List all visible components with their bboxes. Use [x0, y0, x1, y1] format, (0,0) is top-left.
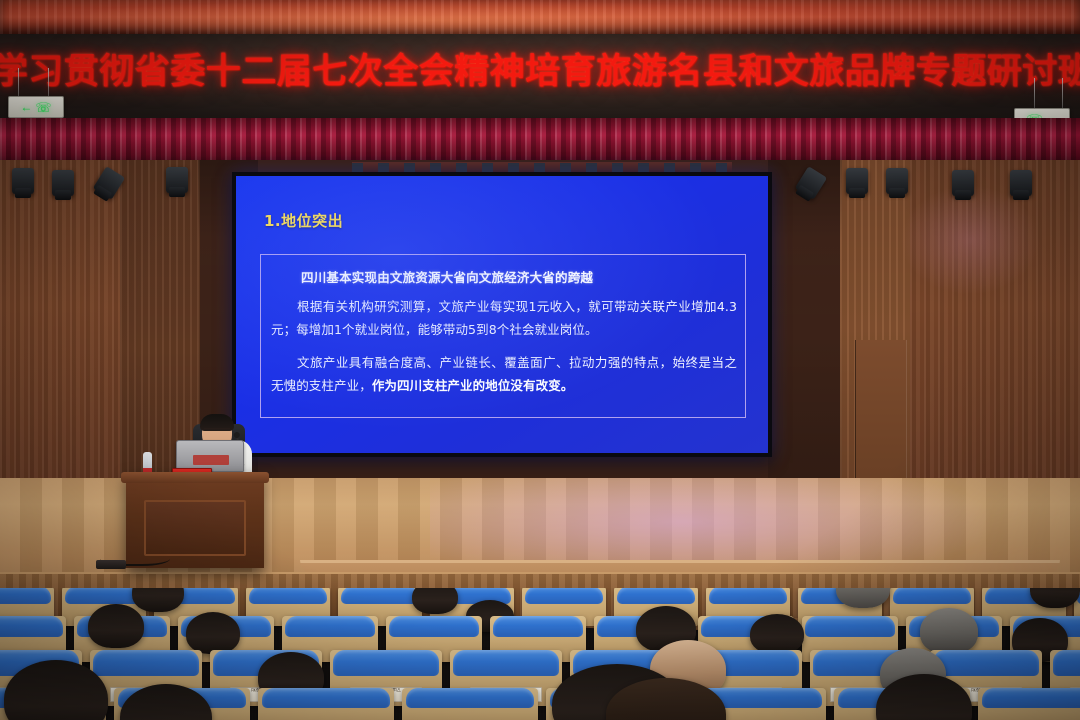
audience-head [920, 608, 978, 654]
seat-cushion [0, 588, 51, 604]
lectern-top [121, 472, 269, 483]
seat-cushion [617, 588, 696, 604]
seat-cushion [982, 688, 1080, 708]
stage-light-2 [52, 170, 74, 196]
stage-light-8 [952, 170, 974, 196]
seat-cushion [249, 588, 328, 604]
seat-cushion [933, 650, 1038, 676]
seat[interactable] [258, 688, 394, 720]
stage-light-6 [846, 168, 868, 194]
seat-cushion [389, 616, 479, 637]
seat-cushion [262, 688, 390, 708]
audience-seating: 成都市新津区 成都市新津区 成都市新津区 成都市新津区 成都市新津区 成都市新津… [0, 588, 1080, 720]
ceiling-light-glow [90, 0, 850, 34]
slide-paragraph-2: 文旅产业具有融合度高、产业链长、覆盖面广、拉动力强的特点，始终是当之无愧的支柱产… [271, 351, 737, 397]
seat-cushion [1053, 650, 1080, 676]
projection-screen: 1.地位突出 四川基本实现由文旅资源大省向文旅经济大省的跨越 根据有关机构研究测… [236, 176, 768, 453]
seat-cushion [333, 650, 438, 676]
auditorium-photo: 学习贯彻省委十二届七次全会精神培育旅游名县和文旅品牌专题研讨班 ← ☏ ☏ → … [0, 0, 1080, 720]
audience-head [88, 604, 144, 648]
arrow-left-icon: ← [20, 101, 32, 113]
slide-title: 1.地位突出 [264, 210, 343, 231]
stage-light-7 [886, 168, 908, 194]
seat-cushion [93, 650, 198, 676]
stage-light-4 [166, 167, 188, 193]
seat-cushion [805, 616, 895, 637]
stage-light-1 [12, 168, 34, 194]
floor-outlet-box [96, 560, 126, 569]
presenter-glasses [204, 428, 230, 432]
seat-cushion [0, 616, 63, 637]
stage-light-9 [1010, 170, 1032, 196]
running-man-icon: ☏ [35, 101, 51, 114]
seat[interactable] [978, 688, 1080, 720]
slide-paragraph-1: 根据有关机构研究测算，文旅产业每实现1元收入，就可带动关联产业增加4.3元；每增… [271, 295, 737, 341]
seat-cushion [341, 588, 420, 604]
audience-head [412, 588, 458, 614]
ceiling-beam [0, 0, 1080, 34]
wall-light-spill [900, 185, 1040, 295]
seat-cushion [493, 616, 583, 637]
seat-cushion [709, 588, 788, 604]
seat-cushion [285, 616, 375, 637]
seat-cushion [453, 650, 558, 676]
audience-head [750, 614, 804, 654]
slide-content-box: 四川基本实现由文旅资源大省向文旅经济大省的跨越 根据有关机构研究测算，文旅产业每… [260, 254, 746, 418]
event-banner-text: 学习贯彻省委十二届七次全会精神培育旅游名县和文旅品牌专题研讨班 [18, 42, 1068, 94]
audience-head [186, 612, 240, 654]
projection-screen-frame: 1.地位突出 四川基本实现由文旅资源大省向文旅经济大省的跨越 根据有关机构研究测… [232, 172, 772, 457]
seat-cushion [406, 688, 534, 708]
slide-subtitle: 四川基本实现由文旅资源大省向文旅经济大省的跨越 [301, 267, 735, 286]
exit-sign-left: ← ☏ [8, 96, 64, 118]
seat-cushion [525, 588, 604, 604]
seat-cushion [893, 588, 972, 604]
slide-paragraph-2-bold: 作为四川支柱产业的地位没有改变。 [372, 378, 574, 393]
seat[interactable] [402, 688, 538, 720]
